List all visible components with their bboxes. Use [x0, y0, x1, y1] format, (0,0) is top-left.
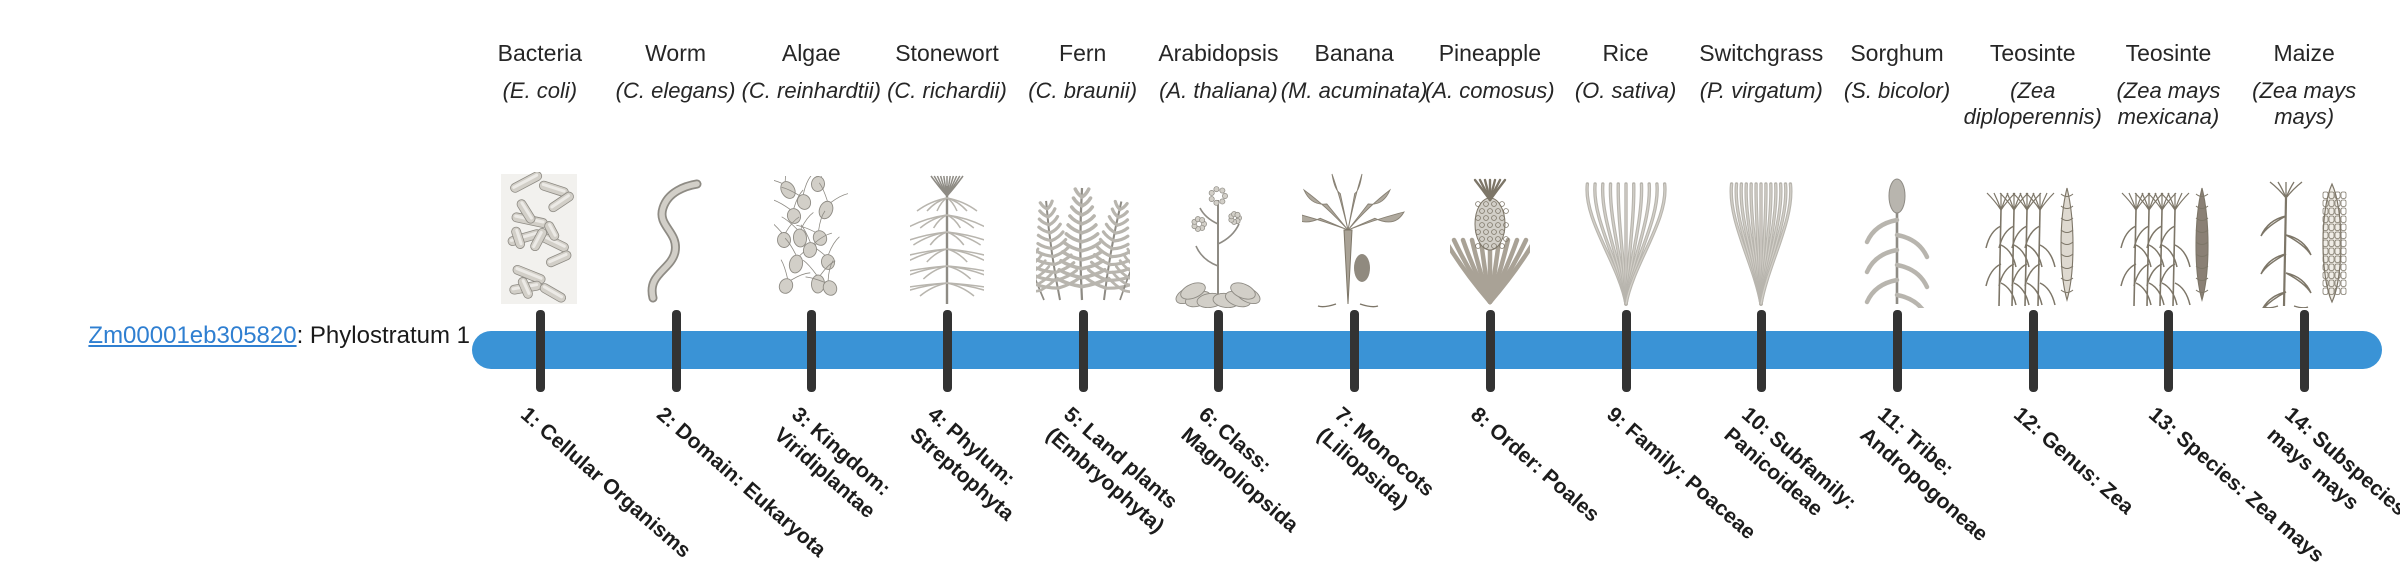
species-scientific-name: (C. reinhardtii)	[737, 78, 885, 104]
maize-icon	[2236, 168, 2372, 308]
species-scientific-name: (Zea diploperennis)	[1959, 78, 2107, 130]
species-common-name: Pineapple	[1422, 40, 1558, 66]
species-common-name: Algae	[743, 40, 879, 66]
phylostratum-tick	[2029, 310, 2038, 392]
species-column: Pineapple(A. comosus)	[1422, 0, 1558, 580]
gene-phylostratum-label: Zm00001eb305820: Phylostratum 1	[40, 322, 470, 351]
phylostratum-tick	[2164, 310, 2173, 392]
bacteria-icon	[472, 168, 608, 308]
species-common-name: Bacteria	[472, 40, 608, 66]
stonewort-icon	[879, 168, 1015, 308]
species-column: Teosinte(Zea diploperennis)	[1965, 0, 2101, 580]
worm-icon	[608, 168, 744, 308]
species-scientific-name: (P. virgatum)	[1687, 78, 1835, 104]
phylostratum-tick	[943, 310, 952, 392]
species-column: Bacteria(E. coli)	[472, 0, 608, 580]
phylostratum-tick	[1893, 310, 1902, 392]
rice-icon	[1558, 168, 1694, 308]
banana-icon	[1286, 168, 1422, 308]
gene-label-separator: :	[297, 322, 310, 349]
species-column: Teosinte(Zea mays mexicana)	[2100, 0, 2236, 580]
phylostratum-tick	[1757, 310, 1766, 392]
species-column: Rice(O. sativa)	[1558, 0, 1694, 580]
teosinte-diploperennis-icon	[1965, 168, 2101, 308]
species-common-name: Teosinte	[2100, 40, 2236, 66]
phylostratum-value: Phylostratum 1	[310, 322, 470, 349]
pineapple-icon	[1422, 168, 1558, 308]
species-scientific-name: (C. richardii)	[873, 78, 1021, 104]
phylostratum-tick	[1079, 310, 1088, 392]
phylostratum-tick	[536, 310, 545, 392]
phylostratum-tick	[807, 310, 816, 392]
species-common-name: Fern	[1015, 40, 1151, 66]
species-common-name: Arabidopsis	[1150, 40, 1286, 66]
species-scientific-name: (Zea mays mays)	[2230, 78, 2378, 130]
sorghum-icon	[1829, 168, 1965, 308]
species-common-name: Sorghum	[1829, 40, 1965, 66]
phylostratum-tick	[1350, 310, 1359, 392]
phylostratum-tick	[2300, 310, 2309, 392]
species-common-name: Banana	[1286, 40, 1422, 66]
species-scientific-name: (C. braunii)	[1009, 78, 1157, 104]
species-track: Bacteria(E. coli)1: Cellular OrganismsWo…	[472, 0, 2372, 580]
teosinte-mexicana-icon	[2100, 168, 2236, 308]
species-scientific-name: (M. acuminata)	[1280, 78, 1428, 104]
arabidopsis-icon	[1150, 168, 1286, 308]
species-scientific-name: (C. elegans)	[602, 78, 750, 104]
species-common-name: Worm	[608, 40, 744, 66]
phylostratum-tick	[1214, 310, 1223, 392]
species-common-name: Maize	[2236, 40, 2372, 66]
species-common-name: Switchgrass	[1693, 40, 1829, 66]
species-scientific-name: (S. bicolor)	[1823, 78, 1971, 104]
species-common-name: Teosinte	[1965, 40, 2101, 66]
species-common-name: Stonewort	[879, 40, 1015, 66]
species-scientific-name: (E. coli)	[466, 78, 614, 104]
species-common-name: Rice	[1558, 40, 1694, 66]
phylostratum-tick	[1486, 310, 1495, 392]
species-scientific-name: (A. comosus)	[1416, 78, 1564, 104]
algae-icon	[743, 168, 879, 308]
phylostratum-tick	[1622, 310, 1631, 392]
species-scientific-name: (A. thaliana)	[1144, 78, 1292, 104]
species-scientific-name: (O. sativa)	[1552, 78, 1700, 104]
phylostratigraphy-diagram: Zm00001eb305820: Phylostratum 1 Bacteria…	[0, 0, 2400, 580]
phylostratum-tick	[672, 310, 681, 392]
species-scientific-name: (Zea mays mexicana)	[2094, 78, 2242, 130]
fern-icon	[1015, 168, 1151, 308]
species-column: Worm(C. elegans)	[608, 0, 744, 580]
switchgrass-icon	[1693, 168, 1829, 308]
gene-id-link[interactable]: Zm00001eb305820	[88, 322, 296, 349]
